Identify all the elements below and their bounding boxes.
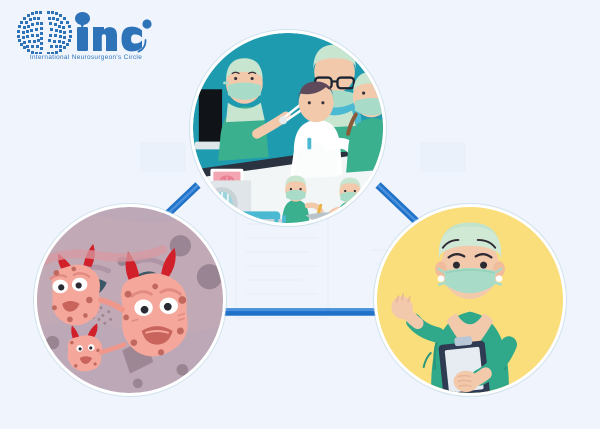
tumor-cells-circle[interactable] — [34, 204, 226, 396]
connector-tumor-to-surgeon — [212, 310, 390, 312]
tumor-cells-illustration — [37, 207, 223, 393]
infographic-canvas: International Neurosurgeon's Circle — [0, 0, 600, 429]
brain-icon — [14, 8, 156, 54]
surgeon-portrait-illustration — [377, 207, 563, 393]
surgery-scene-circle[interactable] — [190, 30, 386, 226]
brand-logo[interactable]: International Neurosurgeon's Circle — [14, 8, 156, 70]
surgeon-portrait-circle[interactable] — [374, 204, 566, 396]
surgery-scene-illustration — [193, 33, 383, 223]
logo-tagline: International Neurosurgeon's Circle — [16, 54, 156, 61]
connector-surgery-to-surgeon — [378, 185, 417, 222]
